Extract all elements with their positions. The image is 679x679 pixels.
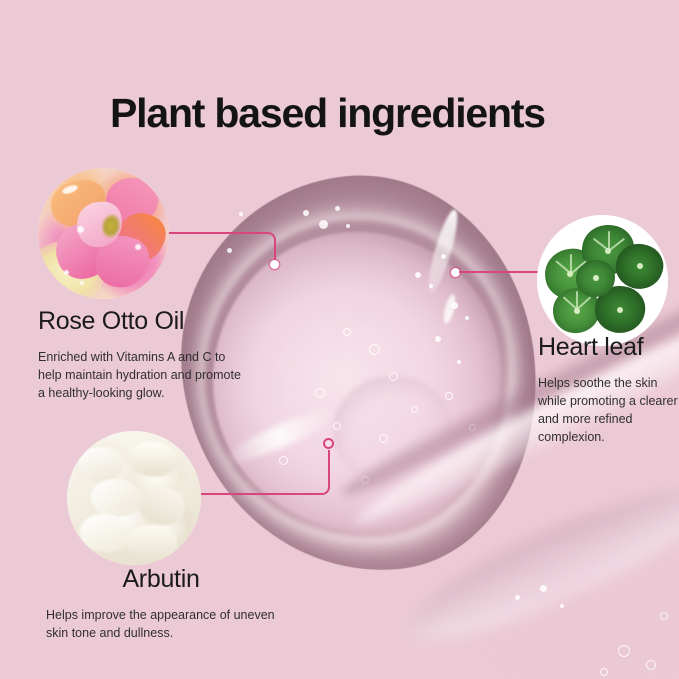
gel-highlight-primary: [423, 207, 462, 294]
thumbnail-arbutin[interactable]: [67, 431, 201, 565]
ingredient-description: Helps soothe the skin while promoting a …: [538, 374, 678, 447]
gel-bubble: [445, 392, 453, 400]
rose-flower-photo-icon: [38, 168, 169, 299]
gel-bubble: [451, 302, 458, 309]
gel-bubble: [429, 284, 433, 288]
ingredient-description: Enriched with Vitamins A and C to help m…: [38, 348, 248, 402]
rose-highlight: [135, 244, 141, 250]
arbutin-powder-photo-icon: [67, 431, 201, 565]
powder-lump: [80, 514, 128, 552]
connector-segment-horizontal: [168, 232, 266, 234]
powder-lump: [78, 447, 124, 482]
powder-lump: [91, 479, 142, 517]
gel-bubble: [469, 424, 476, 431]
gel-bubble: [411, 406, 418, 413]
gel-highlight-secondary: [442, 293, 458, 324]
gel-bubble: [335, 206, 340, 211]
gel-highlight-lower: [220, 403, 339, 472]
gel-bubble: [618, 645, 630, 657]
thumbnail-heart-leaf[interactable]: [537, 215, 668, 346]
gel-bubble: [361, 476, 369, 484]
leaf-center: [617, 307, 623, 313]
ingredient-name: Rose Otto Oil: [38, 308, 248, 336]
gel-swirl: [333, 376, 453, 486]
gel-bubble: [319, 220, 328, 229]
gel-bubble: [303, 210, 309, 216]
gel-streak-secondary: [392, 466, 679, 664]
powder-lump: [126, 525, 177, 560]
page-title: Plant based ingredients: [110, 90, 545, 137]
gel-bubble: [646, 660, 656, 670]
ingredient-card-arbutin: Arbutin Helps improve the appearance of …: [46, 566, 276, 642]
gel-bubble: [441, 254, 446, 259]
powder-lump: [129, 442, 177, 477]
ingredient-description: Helps improve the appearance of uneven s…: [46, 606, 276, 642]
gel-bubble: [415, 272, 421, 278]
gel-bubble: [239, 212, 243, 216]
gel-bubble: [379, 434, 388, 443]
gel-bubble: [465, 316, 469, 320]
gel-bubble: [435, 336, 441, 342]
connector-segment-vertical: [328, 450, 330, 484]
connector-segment-horizontal: [459, 271, 545, 273]
gel-bubble: [343, 328, 351, 336]
corner-shading: [459, 519, 679, 679]
rose-highlight: [77, 226, 84, 233]
connector-endpoint-dot: [270, 260, 279, 269]
thumbnail-rose-otto-oil[interactable]: [38, 168, 169, 299]
ingredient-name: Heart leaf: [538, 334, 678, 362]
gel-bubble: [389, 372, 398, 381]
gel-bubble: [515, 595, 520, 600]
gel-bubble: [279, 456, 288, 465]
gel-bubble: [660, 612, 668, 620]
gel-bubble: [540, 585, 547, 592]
connector-endpoint-dot: [323, 438, 334, 449]
gel-bubble: [369, 344, 380, 355]
ingredient-infographic: Plant based ingredients: [0, 0, 679, 679]
gel-bubble: [457, 360, 461, 364]
ingredient-card-heart-leaf: Heart leaf Helps soothe the skin while p…: [538, 334, 678, 446]
heart-leaf-photo-icon: [537, 215, 668, 346]
gel-bubble: [227, 248, 232, 253]
connector-segment-horizontal: [196, 493, 320, 495]
rose-highlight: [80, 281, 84, 285]
ingredient-name: Arbutin: [46, 566, 276, 594]
connector-corner: [318, 483, 330, 495]
gel-bubble: [315, 388, 325, 398]
gel-bubble: [333, 422, 341, 430]
gel-bubble: [560, 604, 564, 608]
ingredient-card-rose-otto-oil: Rose Otto Oil Enriched with Vitamins A a…: [38, 308, 248, 402]
gel-bubble: [346, 224, 350, 228]
powder-lump: [139, 487, 185, 525]
gel-bubble: [600, 668, 608, 676]
